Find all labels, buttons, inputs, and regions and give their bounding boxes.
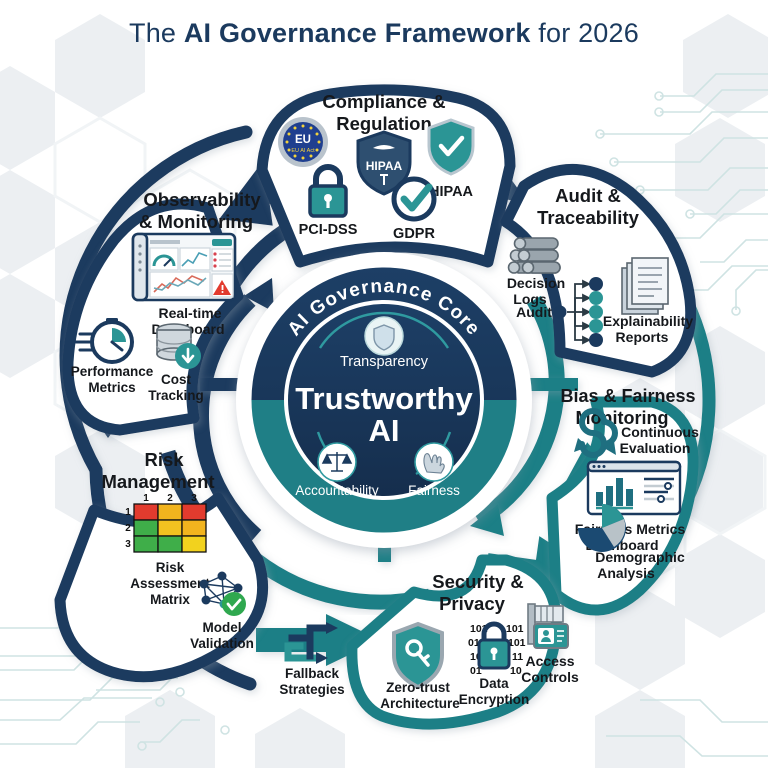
- continuous-eval-label-2: Evaluation: [620, 440, 691, 456]
- shield-key-icon[interactable]: [394, 624, 442, 687]
- explainability-label-1: Explainability: [603, 313, 693, 329]
- fallback-label-2: Strategies: [279, 682, 344, 697]
- loop-arrows-icon[interactable]: [288, 622, 338, 664]
- performance-label-1: Performance: [71, 364, 154, 379]
- risk-col-3: 3: [191, 493, 197, 504]
- decision-logs-label-1: Decision: [507, 275, 565, 291]
- cost-tracking-label-1: Cost: [161, 372, 192, 387]
- gdpr-label: GDPR: [393, 226, 435, 242]
- data-encryption-label-1: Data: [479, 676, 509, 691]
- demographic-label-1: Demographic: [595, 549, 685, 565]
- risk-matrix-icon[interactable]: 1 2 3 1 2 3: [125, 493, 206, 552]
- continuous-eval-label-1: Continuous: [621, 424, 699, 440]
- petal-observability-title-2: & Monitoring: [139, 211, 253, 232]
- petal-risk-title-1: Risk: [144, 449, 184, 470]
- access-controls-label-2: Controls: [521, 669, 579, 685]
- risk-matrix-label-1: Risk: [156, 560, 185, 575]
- risk-row-2: 2: [125, 523, 131, 534]
- bit-7: 10: [510, 665, 522, 677]
- petal-security-title-1: Security &: [432, 571, 524, 592]
- stopwatch-icon[interactable]: [76, 318, 132, 362]
- risk-row-3: 3: [125, 539, 131, 550]
- petal-compliance-title-1: Compliance &: [322, 91, 445, 112]
- badge-reader-icon[interactable]: [528, 604, 568, 648]
- risk-matrix-cells: [134, 504, 206, 552]
- bit-3: 101: [508, 637, 526, 649]
- performance-label-2: Metrics: [88, 380, 135, 395]
- data-encryption-label-2: Encryption: [459, 692, 530, 707]
- dashboard-screen-icon[interactable]: [133, 234, 235, 300]
- bit-1: 101: [506, 623, 524, 635]
- petal-risk-title-2: Management: [101, 471, 214, 492]
- bar-chart-panel-icon[interactable]: [588, 462, 680, 514]
- realtime-dash-label-1: Real-time: [158, 305, 221, 321]
- zero-trust-label-1: Zero-trust: [386, 680, 450, 695]
- model-validation-label-1: Model: [203, 620, 242, 635]
- petal-bias-title-1: Bias & Fairness: [560, 386, 695, 406]
- model-validation-label-2: Validation: [190, 636, 254, 651]
- risk-col-1: 1: [143, 493, 149, 504]
- risk-matrix-label-3: Matrix: [150, 592, 190, 607]
- hipaa-shield-label: HIPAA: [366, 159, 403, 173]
- cost-tracking-label-2: Tracking: [148, 388, 204, 403]
- access-controls-label-1: Access: [525, 653, 574, 669]
- pie-chart-icon[interactable]: [578, 504, 626, 552]
- audit-node-label: Audit: [516, 304, 552, 320]
- petal-audit-title-1: Audit &: [555, 185, 621, 206]
- eu-ai-act-badge-icon[interactable]: EU EU AI Act: [278, 117, 328, 167]
- petal-security-title-2: Privacy: [439, 593, 506, 614]
- binary-lock-icon[interactable]: 101 101 011 101 10 11 01 10: [468, 623, 526, 677]
- petal-observability-title-1: Observability: [143, 189, 261, 210]
- risk-matrix-label-2: Assessment: [130, 576, 210, 591]
- demographic-label-2: Analysis: [597, 565, 655, 581]
- petal-audit-title-2: Traceability: [537, 207, 640, 228]
- petal-content-layer: Compliance & Regulation EU EU AI Act HIP…: [0, 0, 768, 768]
- check-circle-icon[interactable]: [394, 179, 434, 219]
- bit-5: 11: [512, 651, 523, 663]
- padlock-icon[interactable]: [310, 167, 346, 216]
- log-stack-icon[interactable]: [509, 238, 561, 273]
- zero-trust-label-2: Architecture: [380, 696, 460, 711]
- fallback-label-1: Fallback: [285, 666, 340, 681]
- risk-col-2: 2: [167, 493, 173, 504]
- infographic-canvas: The AI Governance Framework for 2026: [0, 0, 768, 768]
- explainability-label-2: Reports: [616, 329, 669, 345]
- risk-row-1: 1: [125, 507, 131, 518]
- check-shield-icon[interactable]: [429, 120, 473, 174]
- documents-icon[interactable]: [622, 258, 668, 314]
- eu-badge-text-1: EU: [295, 134, 311, 146]
- pci-dss-label: PCI-DSS: [299, 222, 358, 238]
- eu-badge-text-2: EU AI Act: [291, 148, 315, 154]
